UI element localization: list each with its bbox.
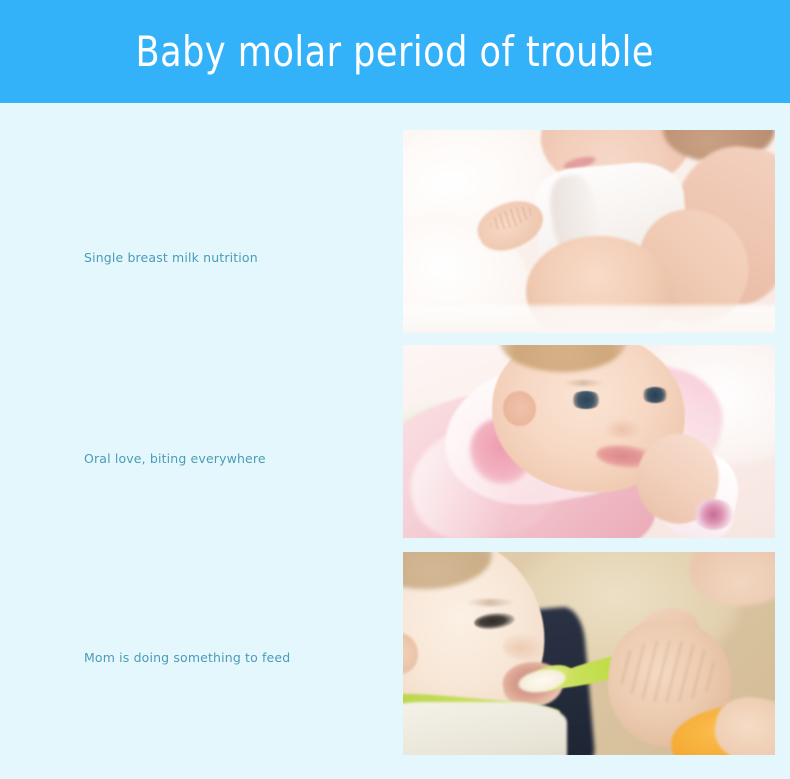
photo-spoon-feeding-canvas bbox=[403, 552, 775, 755]
photo-breastfeeding-canvas bbox=[403, 130, 775, 333]
page-body: Single breast milk nutrition Oral love, … bbox=[0, 103, 790, 779]
photo-spoon-feeding bbox=[403, 552, 775, 755]
page-header: Baby molar period of trouble bbox=[0, 0, 790, 103]
page-title: Baby molar period of trouble bbox=[136, 31, 655, 73]
content-row-3: Mom is doing something to feed bbox=[0, 552, 790, 755]
mother-knuckles-shape bbox=[619, 641, 716, 702]
caption-single-breast-milk-nutrition: Single breast milk nutrition bbox=[84, 250, 258, 265]
baby-eyebrow-shape bbox=[563, 380, 604, 386]
photo-baby-biting bbox=[403, 345, 775, 538]
bed-sheet-shape bbox=[403, 305, 775, 333]
baby-nose-shape bbox=[604, 418, 641, 437]
baby-left-eye-shape bbox=[570, 391, 602, 408]
baby-bib-shape bbox=[403, 702, 567, 755]
caption-oral-love-biting-everywhere: Oral love, biting everywhere bbox=[84, 451, 266, 466]
caption-mom-is-doing-something-to-feed: Mom is doing something to feed bbox=[84, 650, 290, 665]
baby-eyebrow-shape bbox=[466, 599, 514, 606]
content-row-2: Oral love, biting everywhere bbox=[0, 345, 790, 538]
photo-baby-biting-canvas bbox=[403, 345, 775, 538]
baby-nose-shape bbox=[503, 633, 544, 659]
photo-breastfeeding bbox=[403, 130, 775, 333]
content-row-1: Single breast milk nutrition bbox=[0, 130, 790, 333]
baby-right-eye-shape bbox=[641, 387, 669, 402]
